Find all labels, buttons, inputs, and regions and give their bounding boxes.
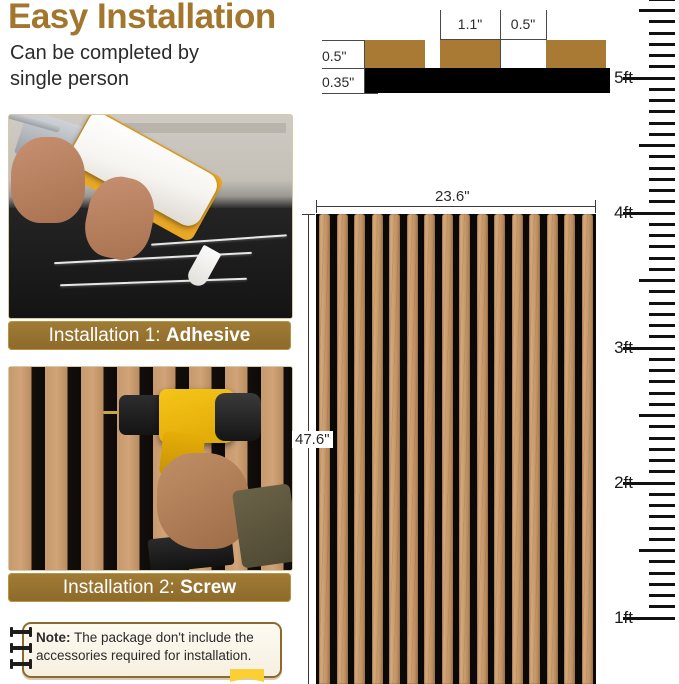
ruler-tick-inch: [649, 20, 675, 23]
ruler-foot-leader: [627, 212, 649, 214]
ruler-tick-inch: [649, 594, 675, 597]
ruler-tick-inch: [649, 572, 675, 575]
caption-adhesive-bold: Adhesive: [166, 325, 250, 346]
caption-adhesive-prefix: Installation 1:: [49, 325, 166, 346]
panel-slat: [319, 214, 330, 684]
ruler-tick-inch: [649, 290, 675, 293]
ruler-tick-inch: [649, 43, 675, 46]
ruler-tick-inch: [649, 189, 675, 192]
photo-screw-image: [8, 366, 293, 571]
ruler-tick-inch: [649, 155, 675, 158]
dim-height-label: 47.6": [292, 431, 333, 448]
ruler-tick-half: [639, 549, 675, 552]
ruler-foot-leader: [627, 77, 649, 79]
photo-adhesive-image: [8, 114, 293, 319]
ruler-scale: 5ft4ft3ft2ft1ft: [609, 0, 679, 684]
page-title: Easy Installation: [8, 0, 338, 38]
ruler-tick-inch: [649, 448, 675, 451]
ruler-foot-leader: [627, 482, 649, 484]
note-text: Note: The package don't include the acce…: [36, 629, 272, 665]
ruler-tick-inch: [649, 493, 675, 496]
background-shelf: [122, 123, 286, 133]
panel-slat: [354, 214, 365, 684]
caption-screw-bold: Screw: [180, 577, 236, 598]
ruler-tick-inch: [649, 459, 675, 462]
ruler-tick-inch: [649, 605, 675, 608]
ruler-tick-inch: [649, 234, 675, 237]
ruler-tick-half: [639, 414, 675, 417]
ruler-tick-inch: [649, 167, 675, 170]
ruler-tick-inch: [649, 504, 675, 507]
cross-section-slat-3: [546, 40, 606, 68]
ruler-tick-inch: [649, 425, 675, 428]
note-box: Note: The package don't include the acce…: [10, 622, 282, 674]
ruler-tick-inch: [649, 302, 675, 305]
dim-height-line: [308, 214, 309, 684]
ruler-foot-leader: [627, 617, 649, 619]
cross-section-backing: [365, 68, 610, 93]
ruler-tick-inch: [649, 515, 675, 518]
cross-section-slat-2: [440, 40, 500, 68]
cross-section-slat-1: [365, 40, 425, 68]
ruler-tick-inch: [649, 178, 675, 181]
cross-section-diagram: 1.1" 0.5" 0.5" 0.35": [318, 2, 610, 100]
slat-panel: [316, 214, 596, 684]
panel-slat: [459, 214, 470, 684]
ruler-tick-inch: [649, 437, 675, 440]
photo-card-adhesive: Installation 1: Adhesive: [8, 114, 291, 350]
ruler-tick-inch: [649, 200, 675, 203]
ruler-tick-inch: [649, 560, 675, 563]
ruler-tick-inch: [649, 54, 675, 57]
caption-adhesive: Installation 1: Adhesive: [8, 321, 291, 350]
ruler-tick-inch: [649, 527, 675, 530]
binder-ring-1: [10, 630, 32, 634]
note-tape-icon: [230, 669, 264, 682]
ruler-tick-inch: [649, 133, 675, 136]
ruler-tick-inch: [649, 538, 675, 541]
panel-slat: [547, 214, 558, 684]
page-subtitle: Can be completed bysingle person: [10, 40, 310, 92]
caption-screw: Installation 2: Screw: [8, 573, 291, 602]
ruler-tick-inch: [649, 335, 675, 338]
ruler-tick-inch: [649, 268, 675, 271]
ruler-tick-inch: [649, 380, 675, 383]
ruler-tick-inch: [649, 0, 675, 1]
ruler-tick-inch: [649, 392, 675, 395]
dim-width-tick-right: [595, 200, 596, 213]
ruler-tick-inch: [649, 403, 675, 406]
panel-slat: [494, 214, 505, 684]
ruler-tick-inch: [649, 32, 675, 35]
ruler-tick-inch: [649, 369, 675, 372]
panel-slat: [512, 214, 523, 684]
binder-ring-3: [10, 662, 32, 666]
page-subtitle-text: Can be completed bysingle person: [10, 42, 199, 90]
sleeve: [232, 483, 293, 568]
panel-slat: [372, 214, 383, 684]
note-label: Note:: [36, 630, 71, 645]
hand-on-trigger: [11, 137, 85, 223]
ruler-tick-inch: [649, 324, 675, 327]
dim-rule-bot: [322, 93, 378, 94]
ruler-tick-half: [639, 144, 675, 147]
caption-screw-prefix: Installation 2:: [63, 577, 180, 598]
photo-card-screw: Installation 2: Screw: [8, 366, 291, 602]
dim-width-tick-left: [316, 200, 317, 213]
ruler-tick-inch: [649, 88, 675, 91]
ruler-tick-inch: [649, 583, 675, 586]
ruler-tick-inch: [649, 245, 675, 248]
dim-gap-width-label: 0.5": [502, 16, 544, 32]
dim-height-tick-top: [302, 214, 315, 215]
ruler-tick-half: [639, 279, 675, 282]
ruler-tick-half: [639, 9, 675, 12]
dim-slat-width-label: 1.1": [442, 16, 498, 32]
panel-slat: [407, 214, 418, 684]
panel-slat: [389, 214, 400, 684]
ruler-tick-inch: [649, 122, 675, 125]
ruler-tick-inch: [649, 65, 675, 68]
panel-slat: [337, 214, 348, 684]
ruler-tick-inch: [649, 358, 675, 361]
panel-slat: [477, 214, 488, 684]
ruler-tick-inch: [649, 99, 675, 102]
ruler-tick-inch: [649, 223, 675, 226]
panel-slat: [424, 214, 435, 684]
ruler-tick-inch: [649, 313, 675, 316]
panel-slat: [529, 214, 540, 684]
dim-slat-thickness-label: 0.5": [322, 48, 370, 64]
panel-slat: [564, 214, 575, 684]
ruler-tick-inch: [649, 110, 675, 113]
ruler-tick-inch: [649, 470, 675, 473]
drill-motor-housing: [215, 393, 261, 441]
panel-slat: [582, 214, 593, 684]
panel-slat: [442, 214, 453, 684]
dim-width-label: 23.6": [432, 188, 473, 205]
binder-ring-2: [10, 646, 32, 650]
dim-width-line: [316, 206, 596, 207]
ruler-foot-leader: [627, 347, 649, 349]
ruler-tick-inch: [649, 257, 675, 260]
